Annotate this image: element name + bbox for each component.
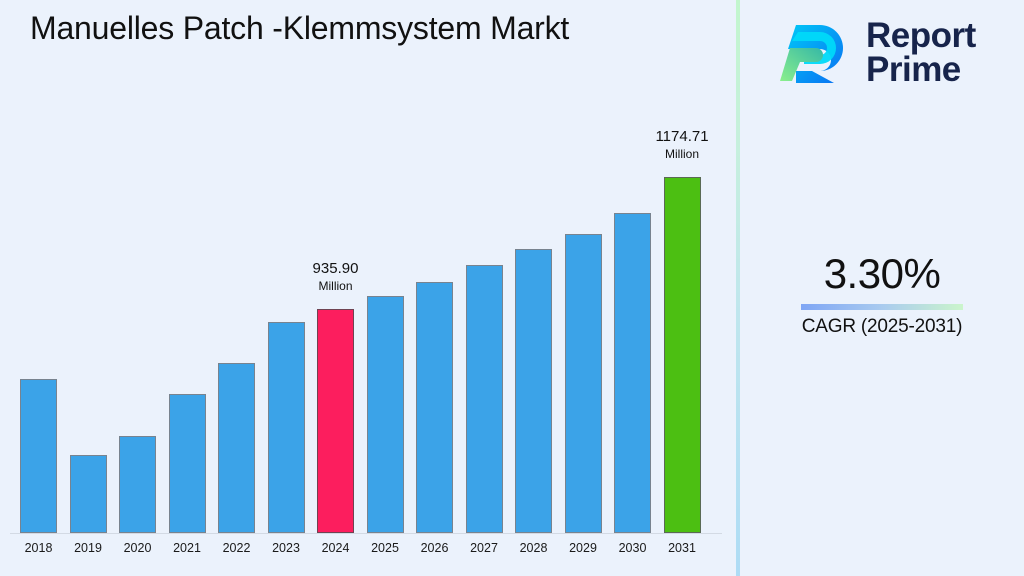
x-tick-2025: 2025 [360, 541, 411, 555]
x-tick-2029: 2029 [558, 541, 609, 555]
bar-2019 [70, 455, 107, 533]
x-tick-2028: 2028 [508, 541, 559, 555]
bar-2031 [664, 177, 701, 533]
x-tick-2024: 2024 [310, 541, 361, 555]
bar-2020 [119, 436, 156, 533]
brand-name-line2: Prime [866, 50, 961, 89]
brand-name: Report Prime [866, 19, 976, 88]
bar-unit-2024: Million [284, 280, 387, 292]
bar-value-label-2024: 935.90Million [284, 261, 387, 292]
x-axis-line [10, 533, 722, 534]
infographic-root: Manuelles Patch -Klemmsystem Markt 20182… [0, 0, 1024, 576]
x-tick-2027: 2027 [459, 541, 510, 555]
bar-2028 [515, 249, 552, 533]
bar-2023 [268, 322, 305, 533]
brand-panel: Report Prime 3.30% CAGR (2025-2031) [740, 0, 1024, 576]
cagr-block: 3.30% CAGR (2025-2031) [740, 252, 1024, 338]
bar-value-label-2031: 1174.71Million [631, 129, 734, 160]
x-tick-2020: 2020 [112, 541, 163, 555]
x-tick-2018: 2018 [13, 541, 64, 555]
bar-2029 [565, 234, 602, 533]
bar-2024 [317, 309, 354, 533]
x-tick-2026: 2026 [409, 541, 460, 555]
x-tick-2019: 2019 [63, 541, 114, 555]
x-tick-2023: 2023 [261, 541, 312, 555]
x-tick-2022: 2022 [211, 541, 262, 555]
brand-name-line1: Report [866, 16, 976, 55]
bar-2026 [416, 282, 453, 533]
bar-2018 [20, 379, 57, 533]
report-prime-logo-mark-icon [778, 16, 852, 90]
chart-panel: Manuelles Patch -Klemmsystem Markt 20182… [0, 0, 738, 576]
bar-unit-2031: Million [631, 148, 734, 160]
bar-2027 [466, 265, 503, 533]
cagr-caption: CAGR (2025-2031) [740, 316, 1024, 338]
bar-chart-plot: 2018201920202021202220232024935.90Millio… [0, 0, 738, 576]
bar-value-2031: 1174.71 [631, 129, 734, 144]
x-tick-2030: 2030 [607, 541, 658, 555]
bar-2022 [218, 363, 255, 533]
bar-2025 [367, 296, 404, 533]
brand-logo: Report Prime [778, 10, 1004, 96]
cagr-divider [801, 304, 963, 310]
x-tick-2031: 2031 [657, 541, 708, 555]
x-tick-2021: 2021 [162, 541, 213, 555]
bar-2030 [614, 213, 651, 533]
bar-2021 [169, 394, 206, 533]
cagr-value: 3.30% [740, 252, 1024, 296]
bar-value-2024: 935.90 [284, 261, 387, 276]
